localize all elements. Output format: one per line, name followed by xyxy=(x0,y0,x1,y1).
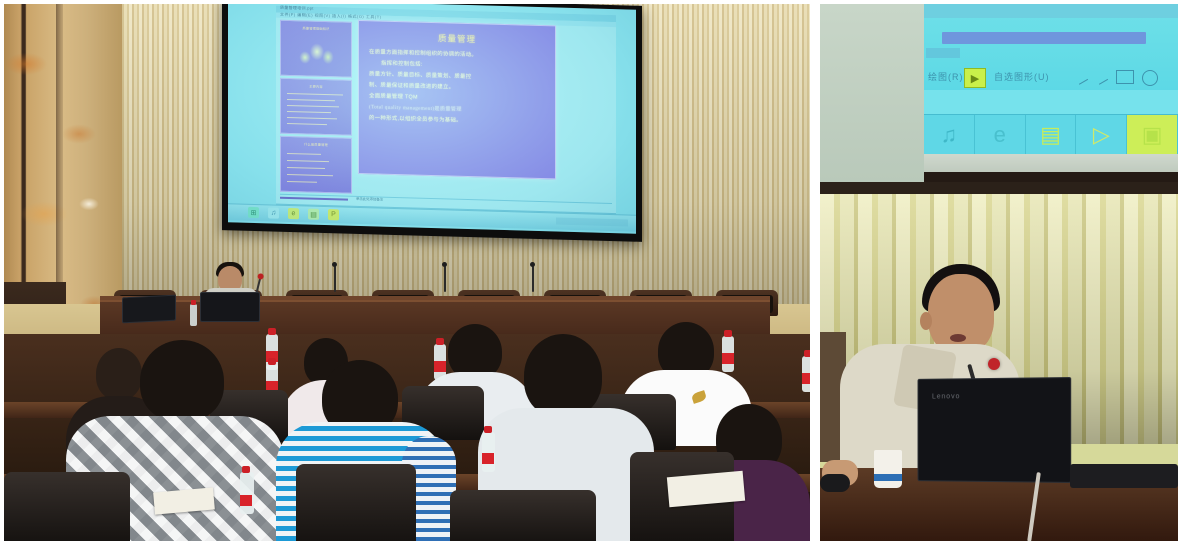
thumbnail-1-title: 质量管理基础知识 xyxy=(281,25,351,32)
media-player-icon[interactable]: ♫ xyxy=(924,115,975,155)
desk-microphone xyxy=(532,266,534,292)
slide-thumbnail-2[interactable]: 主要内容 xyxy=(280,78,352,136)
notes-placeholder: 单击此处添加备注 xyxy=(356,196,383,202)
laptop-brand-label: Lenovo xyxy=(932,393,960,400)
speaker-ear xyxy=(920,312,932,330)
arrow-tool-icon[interactable] xyxy=(1094,70,1108,85)
podium-console xyxy=(1070,464,1178,488)
wall-surface xyxy=(820,4,924,182)
line-tool-icon[interactable] xyxy=(1074,70,1088,85)
paper-cup xyxy=(874,450,902,488)
thumbnail-2-title: 主要内容 xyxy=(281,83,351,90)
desk-microphone xyxy=(444,266,446,292)
window-title-bar xyxy=(924,4,1178,18)
speaker-portrait: Lenovo xyxy=(820,182,1178,541)
rectangle-tool-icon[interactable] xyxy=(1116,70,1134,84)
notes-bar xyxy=(280,197,348,201)
slide-title: 质量管理 xyxy=(359,30,555,47)
green-app-icon[interactable]: ▣ xyxy=(1127,115,1178,155)
slide-thumbnail-1[interactable]: 质量管理基础知识 xyxy=(280,20,352,78)
right-photo-column: 绘图(R) ▶ 自选图形(U) ♫ e ▤ ▷ ▣ xyxy=(820,4,1178,541)
screen-surface: 绘图(R) ▶ 自选图形(U) ♫ e ▤ ▷ ▣ xyxy=(924,4,1178,154)
microphone-head xyxy=(988,358,1000,370)
water-bottle xyxy=(482,432,495,472)
drawing-toolbar-row[interactable]: 绘图(R) ▶ 自选图形(U) xyxy=(924,66,1178,88)
current-slide[interactable]: 质量管理 在质量方面指挥和控制组织的协调的活动。 指挥和控制包括: 质量方针、质… xyxy=(358,20,556,180)
powerpoint-window[interactable]: 质量管理培训.ppt 文件(F) 编辑(E) 视图(V) 插入(I) 格式(O)… xyxy=(276,6,616,227)
projection-screen: 质量管理培训.ppt 文件(F) 编辑(E) 视图(V) 插入(I) 格式(O)… xyxy=(228,4,636,234)
speaker-head xyxy=(928,274,994,354)
water-bottle xyxy=(722,336,734,372)
chair xyxy=(296,464,416,541)
water-bottle xyxy=(434,344,446,380)
autoshapes-menu-label[interactable]: 自选图形(U) xyxy=(994,70,1050,83)
oval-tool-icon[interactable] xyxy=(1142,70,1158,86)
start-button[interactable]: ⊞ xyxy=(248,207,259,218)
folder-icon[interactable]: ▤ xyxy=(1026,115,1077,155)
projected-screen-closeup: 绘图(R) ▶ 自选图形(U) ♫ e ▤ ▷ ▣ xyxy=(820,4,1178,182)
mountain-image-icon xyxy=(295,37,337,64)
selected-row-highlight xyxy=(942,32,1146,44)
system-tray[interactable] xyxy=(556,217,628,226)
water-bottle xyxy=(190,304,197,326)
presenter-laptop xyxy=(200,292,260,322)
taskbar-icon-group[interactable]: ⊞ ♫ e ▤ P xyxy=(248,207,339,221)
slide-thumbnail-3[interactable]: 什么是质量管理 xyxy=(280,136,352,194)
internet-explorer-icon[interactable]: e xyxy=(288,208,299,219)
thumbnail-3-title: 什么是质量管理 xyxy=(281,141,351,148)
drawing-menu-label[interactable]: 绘图(R) xyxy=(928,70,964,83)
projection-screen-frame: 质量管理培训.ppt 文件(F) 编辑(E) 视图(V) 插入(I) 格式(O)… xyxy=(222,4,642,242)
paper-cup-band xyxy=(874,474,902,481)
toolbar-mini-icons[interactable] xyxy=(926,48,960,58)
fill-color-button[interactable]: ▶ xyxy=(964,68,986,88)
photo-collage: 质量管理培训.ppt 文件(F) 编辑(E) 视图(V) 插入(I) 格式(O)… xyxy=(0,0,1182,551)
empty-toolbar-space xyxy=(924,90,1178,114)
water-bottle xyxy=(802,356,810,392)
computer-mouse xyxy=(820,474,850,492)
powerpoint-title-text: 质量管理培训.ppt xyxy=(280,5,314,12)
powerpoint-icon[interactable]: P xyxy=(328,209,339,220)
chair xyxy=(4,472,130,541)
play-icon[interactable]: ▷ xyxy=(1076,115,1127,155)
taskbar-closeup[interactable]: ♫ e ▤ ▷ ▣ xyxy=(924,114,1178,155)
chair xyxy=(450,490,596,541)
dark-rail xyxy=(924,172,1178,182)
media-player-icon[interactable]: ♫ xyxy=(268,207,279,218)
folder-icon[interactable]: ▤ xyxy=(308,209,319,220)
desk-microphone xyxy=(334,266,336,292)
water-bottle xyxy=(240,472,254,514)
secondary-laptop xyxy=(122,295,176,324)
conference-room-wide-shot: 质量管理培训.ppt 文件(F) 编辑(E) 视图(V) 插入(I) 格式(O)… xyxy=(4,4,810,541)
slide-thumbnail-panel[interactable]: 质量管理基础知识 主要内容 什 xyxy=(280,20,350,192)
speaker-mouth xyxy=(950,334,966,342)
lenovo-laptop: Lenovo xyxy=(918,377,1072,483)
slide-body: 在质量方面指挥和控制组织的协调的活动。 指挥和控制包括: 质量方针、质量目标、质… xyxy=(369,47,547,129)
internet-explorer-icon[interactable]: e xyxy=(975,115,1026,155)
